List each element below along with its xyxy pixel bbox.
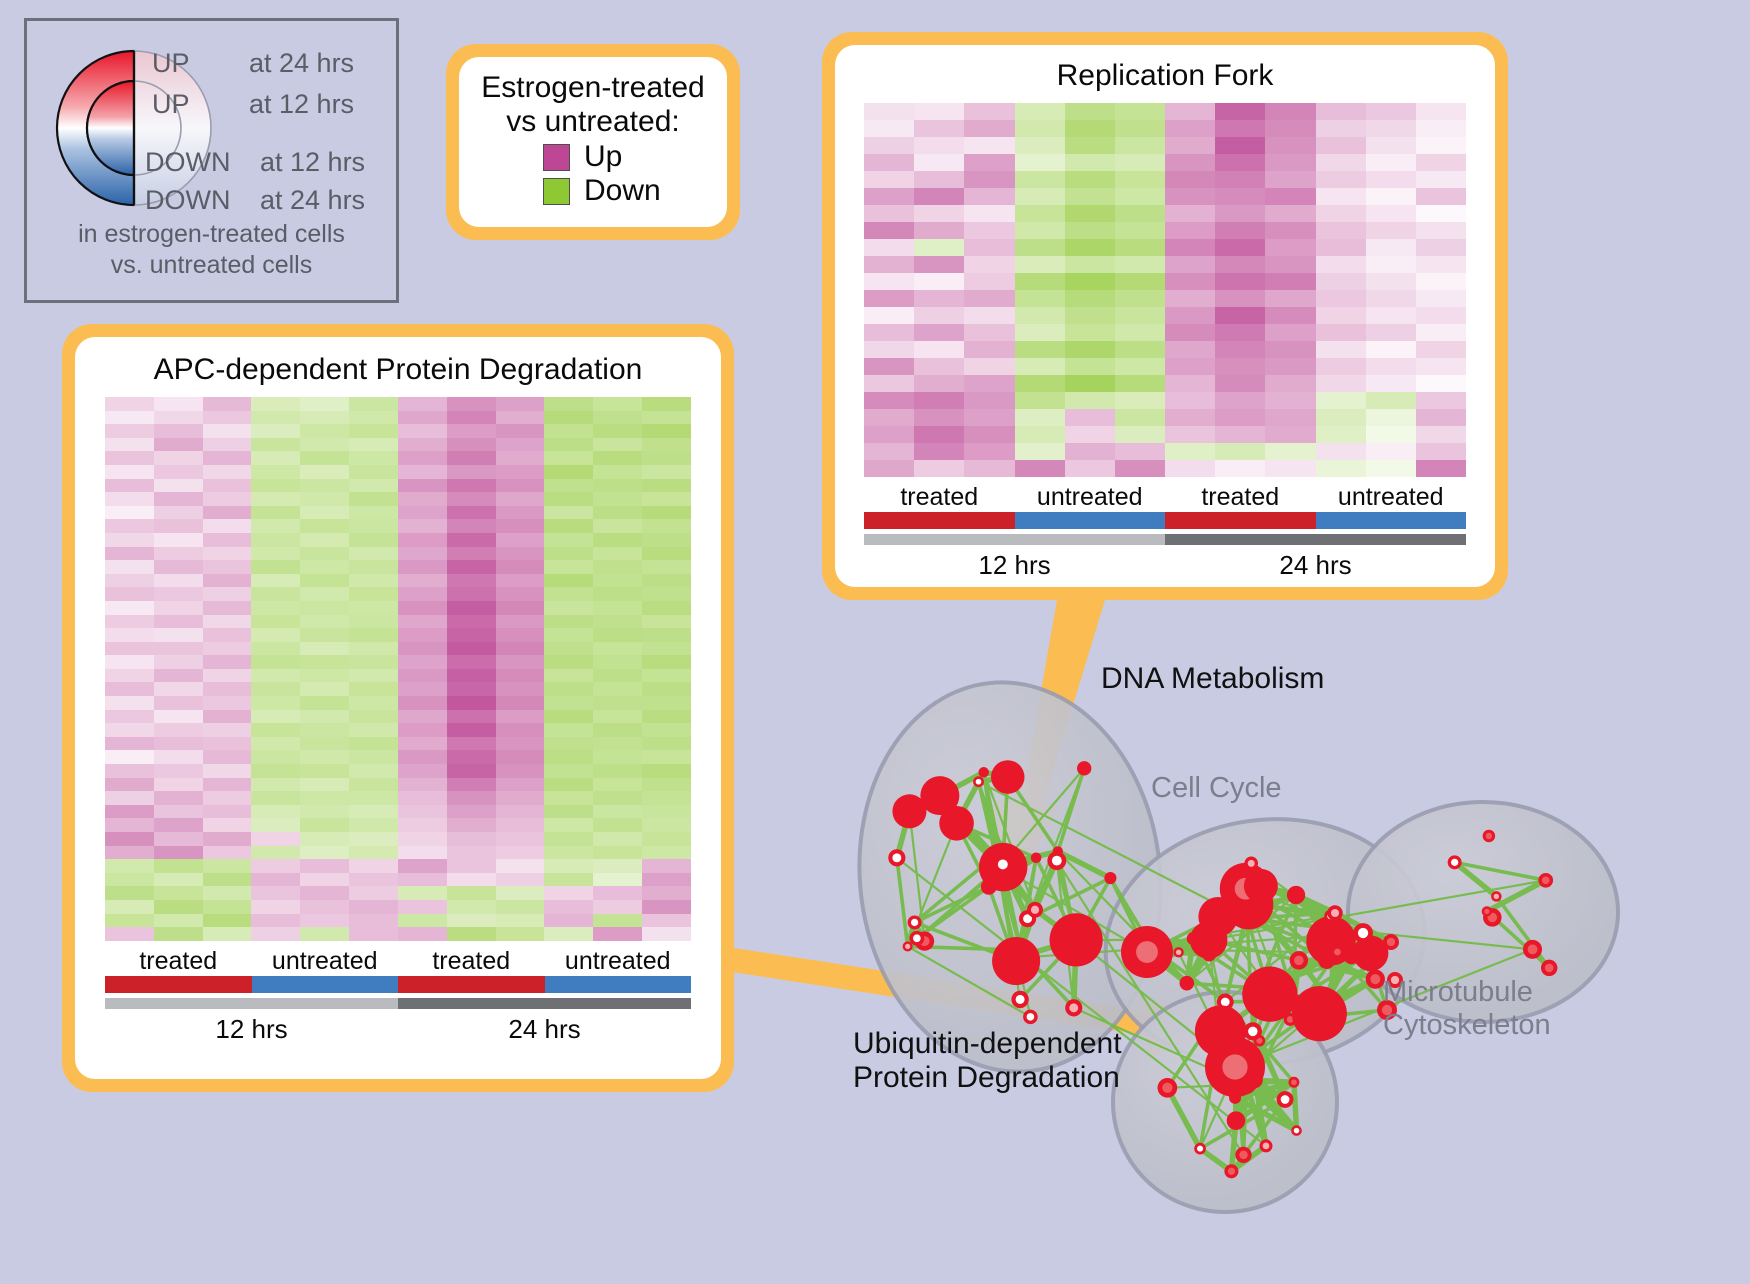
heatmap-cell bbox=[105, 465, 154, 479]
heatmap-cell bbox=[1416, 375, 1466, 392]
heatmap-cell bbox=[105, 655, 154, 669]
heatmap-cell bbox=[203, 859, 252, 873]
heatmap-cell bbox=[1065, 273, 1115, 290]
heatmap-cell bbox=[349, 682, 398, 696]
heatmap-cell bbox=[398, 737, 447, 751]
group-label-0: treated bbox=[105, 947, 252, 976]
heatmap-cell bbox=[1316, 205, 1366, 222]
heatmap-cell bbox=[1215, 341, 1265, 358]
network-node bbox=[1251, 981, 1264, 994]
heatmap-cell bbox=[447, 778, 496, 792]
network-node-core bbox=[1291, 1079, 1297, 1085]
heatmap-cell bbox=[642, 750, 691, 764]
heatmap-cell bbox=[349, 764, 398, 778]
heatmap-cell bbox=[642, 669, 691, 683]
heatmap-cell bbox=[496, 846, 545, 860]
heatmap-cell bbox=[447, 832, 496, 846]
heatmap-cell bbox=[349, 533, 398, 547]
heatmap-cell bbox=[1416, 171, 1466, 188]
heatmap-cell bbox=[544, 601, 593, 615]
heatmap-cell bbox=[1115, 154, 1165, 171]
heatmap-cell bbox=[105, 642, 154, 656]
heatmap-cell bbox=[1265, 426, 1315, 443]
heatmap-cell bbox=[154, 710, 203, 724]
heatmap-cell bbox=[154, 791, 203, 805]
network-node bbox=[1244, 869, 1278, 903]
heatmap-cell bbox=[864, 426, 914, 443]
heatmap-cell bbox=[1416, 103, 1466, 120]
heatmap-cell bbox=[203, 886, 252, 900]
network-node-core bbox=[1294, 1128, 1300, 1134]
network-node bbox=[978, 767, 988, 777]
heatmap-cell bbox=[447, 900, 496, 914]
network-node bbox=[1323, 993, 1337, 1007]
heatmap-cell bbox=[593, 506, 642, 520]
heatmap-cell bbox=[447, 886, 496, 900]
network-node bbox=[1227, 1111, 1246, 1130]
apc-dependent-time-bars bbox=[105, 998, 691, 1009]
heatmap-cell bbox=[349, 723, 398, 737]
heatmap-cell bbox=[593, 560, 642, 574]
heatmap-cell bbox=[1265, 273, 1315, 290]
heatmap-cell bbox=[964, 341, 1014, 358]
heatmap-cell bbox=[593, 519, 642, 533]
heatmap-cell bbox=[203, 710, 252, 724]
heatmap-cell bbox=[496, 506, 545, 520]
heatmap-cell bbox=[1015, 409, 1065, 426]
heatmap-cell bbox=[1065, 137, 1115, 154]
heatmap-cell bbox=[154, 601, 203, 615]
heatmap-cell bbox=[349, 832, 398, 846]
heatmap-cell bbox=[642, 424, 691, 438]
heatmap-cell bbox=[1316, 103, 1366, 120]
heatmap-cell bbox=[398, 615, 447, 629]
heatmap-cell bbox=[447, 873, 496, 887]
heatmap-cell bbox=[398, 492, 447, 506]
heatmap-cell bbox=[1115, 409, 1165, 426]
heatmap-cell bbox=[398, 886, 447, 900]
heatmap-cell bbox=[642, 492, 691, 506]
network-node bbox=[1077, 761, 1091, 775]
heatmap-cell bbox=[914, 137, 964, 154]
heatmap-cell bbox=[398, 411, 447, 425]
heatmap-cell bbox=[1316, 120, 1366, 137]
heatmap-cell bbox=[154, 655, 203, 669]
heatmap-cell bbox=[496, 900, 545, 914]
network-node-core bbox=[1451, 859, 1458, 866]
heatmap-cell bbox=[1366, 205, 1416, 222]
heatmap-cell bbox=[105, 533, 154, 547]
heatmap-legend-heading-line1: Estrogen-treated bbox=[469, 71, 717, 105]
heatmap-cell bbox=[203, 479, 252, 493]
heatmap-cell bbox=[105, 628, 154, 642]
heatmap-cell bbox=[544, 587, 593, 601]
wheel-label-time-3: at 24 hrs bbox=[260, 185, 365, 216]
heatmap-cell bbox=[1366, 290, 1416, 307]
heatmap-cell bbox=[1265, 239, 1315, 256]
heatmap-cell bbox=[1265, 443, 1315, 460]
heatmap-cell bbox=[105, 764, 154, 778]
wheel-label-time-1: at 12 hrs bbox=[249, 89, 354, 120]
heatmap-cell bbox=[964, 171, 1014, 188]
heatmap-cell bbox=[544, 791, 593, 805]
heatmap-cell bbox=[398, 805, 447, 819]
heatmap-cell bbox=[1416, 341, 1466, 358]
heatmap-cell bbox=[1316, 409, 1366, 426]
heatmap-cell bbox=[154, 859, 203, 873]
heatmap-cell bbox=[864, 443, 914, 460]
heatmap-cell bbox=[203, 533, 252, 547]
network-node-core bbox=[1239, 1151, 1247, 1159]
colorwheel-footer: in estrogen-treated cells vs. untreated … bbox=[27, 219, 396, 280]
heatmap-cell bbox=[593, 723, 642, 737]
heatmap-legend-heading: Estrogen-treated vs untreated: bbox=[469, 71, 717, 138]
heatmap-cell bbox=[642, 696, 691, 710]
heatmap-cell bbox=[398, 506, 447, 520]
heatmap-cell bbox=[593, 669, 642, 683]
heatmap-cell bbox=[1115, 341, 1165, 358]
heatmap-cell bbox=[349, 737, 398, 751]
heatmap-cell bbox=[300, 696, 349, 710]
heatmap-cell bbox=[642, 642, 691, 656]
heatmap-cell bbox=[864, 460, 914, 477]
heatmap-cell bbox=[105, 506, 154, 520]
heatmap-cell bbox=[203, 737, 252, 751]
heatmap-cell bbox=[1165, 409, 1215, 426]
heatmap-cell bbox=[203, 818, 252, 832]
group-label-2: treated bbox=[398, 947, 545, 976]
down-color-swatch-icon bbox=[543, 178, 570, 205]
heatmap-cell bbox=[1366, 171, 1416, 188]
heatmap-cell bbox=[914, 256, 964, 273]
heatmap-cell bbox=[864, 171, 914, 188]
heatmap-cell bbox=[914, 460, 964, 477]
heatmap-cell bbox=[914, 188, 964, 205]
heatmap-cell bbox=[544, 873, 593, 887]
heatmap-cell bbox=[1065, 256, 1115, 273]
heatmap-cell bbox=[1316, 188, 1366, 205]
heatmap-cell bbox=[496, 601, 545, 615]
heatmap-cell bbox=[105, 737, 154, 751]
heatmap-cell bbox=[1366, 120, 1416, 137]
group-bar-1 bbox=[1015, 512, 1166, 529]
heatmap-cell bbox=[154, 397, 203, 411]
heatmap-cell bbox=[349, 805, 398, 819]
heatmap-cell bbox=[154, 574, 203, 588]
heatmap-cell bbox=[203, 519, 252, 533]
heatmap-cell bbox=[447, 682, 496, 696]
heatmap-cell bbox=[496, 642, 545, 656]
heatmap-cell bbox=[642, 438, 691, 452]
heatmap-cell bbox=[496, 696, 545, 710]
heatmap-cell bbox=[398, 750, 447, 764]
heatmap-cell bbox=[1065, 426, 1115, 443]
heatmap-cell bbox=[1215, 239, 1265, 256]
heatmap-cell bbox=[398, 547, 447, 561]
heatmap-cell bbox=[251, 574, 300, 588]
heatmap-cell bbox=[349, 465, 398, 479]
heatmap-cell bbox=[496, 818, 545, 832]
heatmap-cell bbox=[1215, 392, 1265, 409]
time-label-1: 24 hrs bbox=[1165, 550, 1466, 581]
network-node-core bbox=[1542, 876, 1550, 884]
network-node-core bbox=[1528, 944, 1538, 954]
replication-fork-group-bars bbox=[864, 512, 1466, 529]
heatmap-cell bbox=[154, 927, 203, 941]
heatmap-cell bbox=[1165, 103, 1215, 120]
heatmap-cell bbox=[642, 710, 691, 724]
heatmap-cell bbox=[447, 927, 496, 941]
heatmap-cell bbox=[300, 506, 349, 520]
heatmap-cell bbox=[300, 560, 349, 574]
heatmap-cell bbox=[544, 492, 593, 506]
heatmap-cell bbox=[914, 103, 964, 120]
heatmap-cell bbox=[1065, 409, 1115, 426]
heatmap-cell bbox=[398, 818, 447, 832]
heatmap-cell bbox=[1015, 460, 1065, 477]
cluster-label-microtubule-cytoskeleton: Microtubule Cytoskeleton bbox=[1383, 976, 1551, 1042]
heatmap-cell bbox=[964, 120, 1014, 137]
heatmap-cell bbox=[349, 397, 398, 411]
heatmap-cell bbox=[1316, 273, 1366, 290]
heatmap-cell bbox=[964, 103, 1014, 120]
heatmap-cell bbox=[544, 737, 593, 751]
heatmap-cell bbox=[105, 615, 154, 629]
heatmap-cell bbox=[964, 273, 1014, 290]
heatmap-cell bbox=[447, 615, 496, 629]
heatmap-cell bbox=[251, 805, 300, 819]
heatmap-cell bbox=[447, 710, 496, 724]
replication-fork-panel: Replication Fork treateduntreatedtreated… bbox=[822, 32, 1508, 600]
heatmap-cell bbox=[300, 778, 349, 792]
heatmap-cell bbox=[251, 696, 300, 710]
heatmap-cell bbox=[496, 547, 545, 561]
heatmap-cell bbox=[154, 696, 203, 710]
network-node-core bbox=[1545, 964, 1554, 973]
heatmap-cell bbox=[1165, 375, 1215, 392]
heatmap-cell bbox=[1215, 460, 1265, 477]
heatmap-cell bbox=[154, 805, 203, 819]
heatmap-cell bbox=[1215, 137, 1265, 154]
heatmap-cell bbox=[1316, 443, 1366, 460]
heatmap-cell bbox=[593, 411, 642, 425]
heatmap-cell bbox=[593, 424, 642, 438]
heatmap-cell bbox=[154, 451, 203, 465]
network-node-core bbox=[1027, 1013, 1035, 1021]
heatmap-cell bbox=[1015, 273, 1065, 290]
network-node-core bbox=[1370, 974, 1380, 984]
heatmap-cell bbox=[1065, 375, 1115, 392]
network-node-core bbox=[1263, 1143, 1270, 1150]
heatmap-cell bbox=[105, 914, 154, 928]
heatmap-cell bbox=[496, 886, 545, 900]
network-node-core bbox=[1294, 956, 1304, 966]
heatmap-cell bbox=[593, 873, 642, 887]
heatmap-cell bbox=[1416, 188, 1466, 205]
heatmap-cell bbox=[1265, 324, 1315, 341]
heatmap-cell bbox=[251, 859, 300, 873]
heatmap-cell bbox=[154, 750, 203, 764]
heatmap-cell bbox=[203, 560, 252, 574]
heatmap-cell bbox=[496, 519, 545, 533]
heatmap-cell bbox=[593, 886, 642, 900]
wheel-label-term-3: DOWN bbox=[145, 185, 230, 216]
legend-item-down-label: Down bbox=[584, 176, 661, 206]
heatmap-cell bbox=[1065, 392, 1115, 409]
heatmap-cell bbox=[914, 375, 964, 392]
heatmap-cell bbox=[349, 669, 398, 683]
heatmap-cell bbox=[1416, 256, 1466, 273]
network-node-core bbox=[998, 859, 1008, 869]
heatmap-cell bbox=[642, 506, 691, 520]
heatmap-cell bbox=[496, 737, 545, 751]
heatmap-cell bbox=[447, 492, 496, 506]
heatmap-cell bbox=[1265, 137, 1315, 154]
heatmap-legend-heading-line2: vs untreated: bbox=[469, 105, 717, 139]
heatmap-cell bbox=[1366, 460, 1416, 477]
heatmap-cell bbox=[447, 764, 496, 778]
heatmap-cell bbox=[642, 519, 691, 533]
heatmap-cell bbox=[154, 533, 203, 547]
heatmap-cell bbox=[1215, 120, 1265, 137]
heatmap-cell bbox=[300, 642, 349, 656]
heatmap-cell bbox=[864, 256, 914, 273]
heatmap-cell bbox=[203, 547, 252, 561]
heatmap-cell bbox=[1215, 273, 1265, 290]
cluster-label-ubiquitin-line2: Protein Degradation bbox=[853, 1061, 1122, 1095]
heatmap-cell bbox=[1215, 171, 1265, 188]
heatmap-cell bbox=[1165, 256, 1215, 273]
heatmap-cell bbox=[251, 846, 300, 860]
heatmap-cell bbox=[964, 256, 1014, 273]
heatmap-cell bbox=[1215, 256, 1265, 273]
heatmap-cell bbox=[1265, 154, 1315, 171]
heatmap-cell bbox=[300, 397, 349, 411]
heatmap-cell bbox=[1265, 290, 1315, 307]
apc-dependent-time-labels: 12 hrs24 hrs bbox=[105, 1014, 691, 1045]
heatmap-cell bbox=[300, 832, 349, 846]
heatmap-cell bbox=[914, 120, 964, 137]
heatmap-cell bbox=[1015, 443, 1065, 460]
heatmap-cell bbox=[398, 846, 447, 860]
heatmap-cell bbox=[642, 628, 691, 642]
heatmap-cell bbox=[642, 601, 691, 615]
heatmap-cell bbox=[1416, 120, 1466, 137]
heatmap-cell bbox=[642, 397, 691, 411]
heatmap-cell bbox=[203, 655, 252, 669]
heatmap-cell bbox=[105, 424, 154, 438]
heatmap-cell bbox=[1215, 154, 1265, 171]
network-node bbox=[1242, 967, 1297, 1022]
heatmap-cell bbox=[544, 750, 593, 764]
heatmap-cell bbox=[1165, 426, 1215, 443]
heatmap-cell bbox=[1416, 409, 1466, 426]
heatmap-cell bbox=[544, 764, 593, 778]
network-node-core bbox=[1248, 1027, 1257, 1036]
heatmap-cell bbox=[154, 424, 203, 438]
heatmap-cell bbox=[1065, 103, 1115, 120]
heatmap-cell bbox=[447, 750, 496, 764]
heatmap-cell bbox=[496, 438, 545, 452]
heatmap-cell bbox=[300, 914, 349, 928]
colorwheel-footer-line1: in estrogen-treated cells bbox=[27, 219, 396, 250]
heatmap-cell bbox=[496, 914, 545, 928]
heatmap-cell bbox=[203, 601, 252, 615]
heatmap-cell bbox=[964, 426, 1014, 443]
heatmap-cell bbox=[447, 465, 496, 479]
heatmap-cell bbox=[593, 778, 642, 792]
network-node-core bbox=[1031, 906, 1039, 914]
heatmap-cell bbox=[105, 805, 154, 819]
wheel-label-time-2: at 12 hrs bbox=[260, 147, 365, 178]
heatmap-cell bbox=[1366, 358, 1416, 375]
heatmap-cell bbox=[1265, 256, 1315, 273]
heatmap-cell bbox=[864, 239, 914, 256]
network-node bbox=[1239, 910, 1256, 927]
heatmap-cell bbox=[203, 846, 252, 860]
network-node-core bbox=[1162, 1083, 1172, 1093]
heatmap-cell bbox=[251, 451, 300, 465]
group-bar-3 bbox=[545, 976, 692, 993]
heatmap-cell bbox=[251, 791, 300, 805]
heatmap-cell bbox=[496, 859, 545, 873]
heatmap-cell bbox=[544, 438, 593, 452]
heatmap-cell bbox=[447, 451, 496, 465]
heatmap-cell bbox=[593, 682, 642, 696]
heatmap-cell bbox=[251, 914, 300, 928]
heatmap-cell bbox=[544, 451, 593, 465]
heatmap-cell bbox=[447, 805, 496, 819]
network-node-core bbox=[1197, 1146, 1203, 1152]
heatmap-cell bbox=[251, 723, 300, 737]
heatmap-cell bbox=[300, 737, 349, 751]
heatmap-cell bbox=[593, 818, 642, 832]
heatmap-cell bbox=[544, 682, 593, 696]
network-node-core bbox=[1281, 1095, 1290, 1104]
heatmap-cell bbox=[593, 397, 642, 411]
heatmap-cell bbox=[1366, 103, 1416, 120]
heatmap-cell bbox=[203, 696, 252, 710]
heatmap-cell bbox=[1316, 426, 1366, 443]
heatmap-cell bbox=[251, 832, 300, 846]
heatmap-cell bbox=[496, 492, 545, 506]
heatmap-cell bbox=[593, 492, 642, 506]
heatmap-cell bbox=[447, 438, 496, 452]
heatmap-cell bbox=[1165, 290, 1215, 307]
heatmap-cell bbox=[593, 710, 642, 724]
network-node-core bbox=[1484, 909, 1489, 914]
heatmap-cell bbox=[864, 154, 914, 171]
heatmap-cell bbox=[447, 642, 496, 656]
heatmap-cell bbox=[642, 587, 691, 601]
time-label-1: 24 hrs bbox=[398, 1014, 691, 1045]
heatmap-cell bbox=[1165, 137, 1215, 154]
heatmap-cell bbox=[154, 465, 203, 479]
heatmap-cell bbox=[964, 375, 1014, 392]
heatmap-cell bbox=[398, 451, 447, 465]
heatmap-cell bbox=[1015, 103, 1065, 120]
heatmap-cell bbox=[398, 655, 447, 669]
heatmap-cell bbox=[496, 424, 545, 438]
heatmap-cell bbox=[496, 669, 545, 683]
heatmap-cell bbox=[642, 805, 691, 819]
heatmap-cell bbox=[1065, 120, 1115, 137]
heatmap-cell bbox=[251, 642, 300, 656]
heatmap-cell bbox=[300, 519, 349, 533]
heatmap-cell bbox=[447, 411, 496, 425]
heatmap-cell bbox=[251, 927, 300, 941]
heatmap-cell bbox=[1165, 358, 1215, 375]
